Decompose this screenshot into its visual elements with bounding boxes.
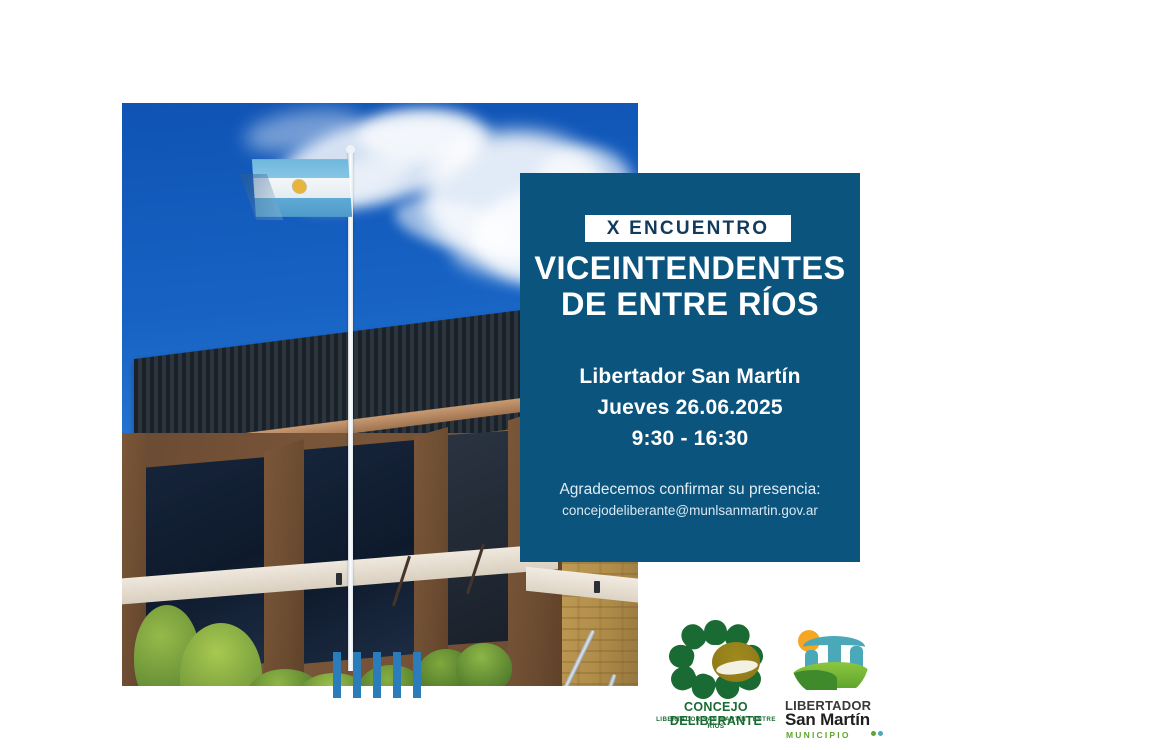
- municipio-emblem-icon: [791, 620, 869, 698]
- hill-icon: [791, 670, 837, 690]
- event-time: 9:30 - 16:30: [520, 424, 860, 455]
- decorative-bar: [333, 652, 341, 698]
- event-title-line1: VICEINTENDENTES: [520, 250, 860, 286]
- logo-row: CONCEJO DELIBERANTE LIBERTADOR SAN MARTÍ…: [650, 618, 890, 736]
- event-edition-badge: X ENCUENTRO: [585, 215, 791, 242]
- flagpole: [348, 151, 353, 671]
- shrub: [456, 643, 512, 686]
- event-title: VICEINTENDENTES DE ENTRE RÍOS: [520, 250, 860, 323]
- municipio-logo-line3: MUNICIPIO: [786, 730, 851, 740]
- decorative-bar: [393, 652, 401, 698]
- decorative-bar: [373, 652, 381, 698]
- sun-of-may-icon: [293, 180, 307, 193]
- concejo-deliberante-logo: CONCEJO DELIBERANTE LIBERTADOR SAN MARTÍ…: [650, 618, 782, 736]
- decorative-bar: [353, 652, 361, 698]
- municipio-logo-dots: [871, 730, 887, 738]
- flyer-canvas: X ENCUENTRO VICEINTENDENTES DE ENTRE RÍO…: [0, 0, 1170, 750]
- window-glass: [298, 440, 418, 664]
- event-location: Libertador San Martín: [520, 362, 860, 393]
- event-edition-label: X ENCUENTRO: [607, 218, 770, 240]
- decorative-bar: [413, 652, 421, 698]
- concejo-logo-subtitle: LIBERTADOR SAN MARTÍN | ENTRE RÍOS: [650, 716, 782, 730]
- event-title-line2: DE ENTRE RÍOS: [520, 286, 860, 322]
- rsvp-block: Agradecemos confirmar su presencia: conc…: [520, 478, 860, 522]
- flower-center: [712, 642, 760, 682]
- decorative-bars: [333, 652, 423, 698]
- argentina-flag-icon: [252, 159, 352, 217]
- wall-lamp: [336, 573, 342, 585]
- event-details: Libertador San Martín Jueves 26.06.2025 …: [520, 362, 860, 455]
- flower-icon: [670, 620, 762, 698]
- wall-lamp: [594, 581, 600, 593]
- logo-fade-mask: [887, 680, 909, 750]
- rsvp-label: Agradecemos confirmar su presencia:: [520, 478, 860, 501]
- municipio-logo: LIBERTADOR San Martín MUNICIPIO: [775, 620, 893, 736]
- municipio-logo-line2: San Martín: [785, 710, 870, 730]
- event-date: Jueves 26.06.2025: [520, 393, 860, 424]
- flagpole-finial: [346, 145, 355, 154]
- facade-column: [264, 439, 304, 686]
- rsvp-email[interactable]: concejodeliberante@munlsanmartin.gov.ar: [520, 501, 860, 521]
- window-glass: [442, 431, 512, 646]
